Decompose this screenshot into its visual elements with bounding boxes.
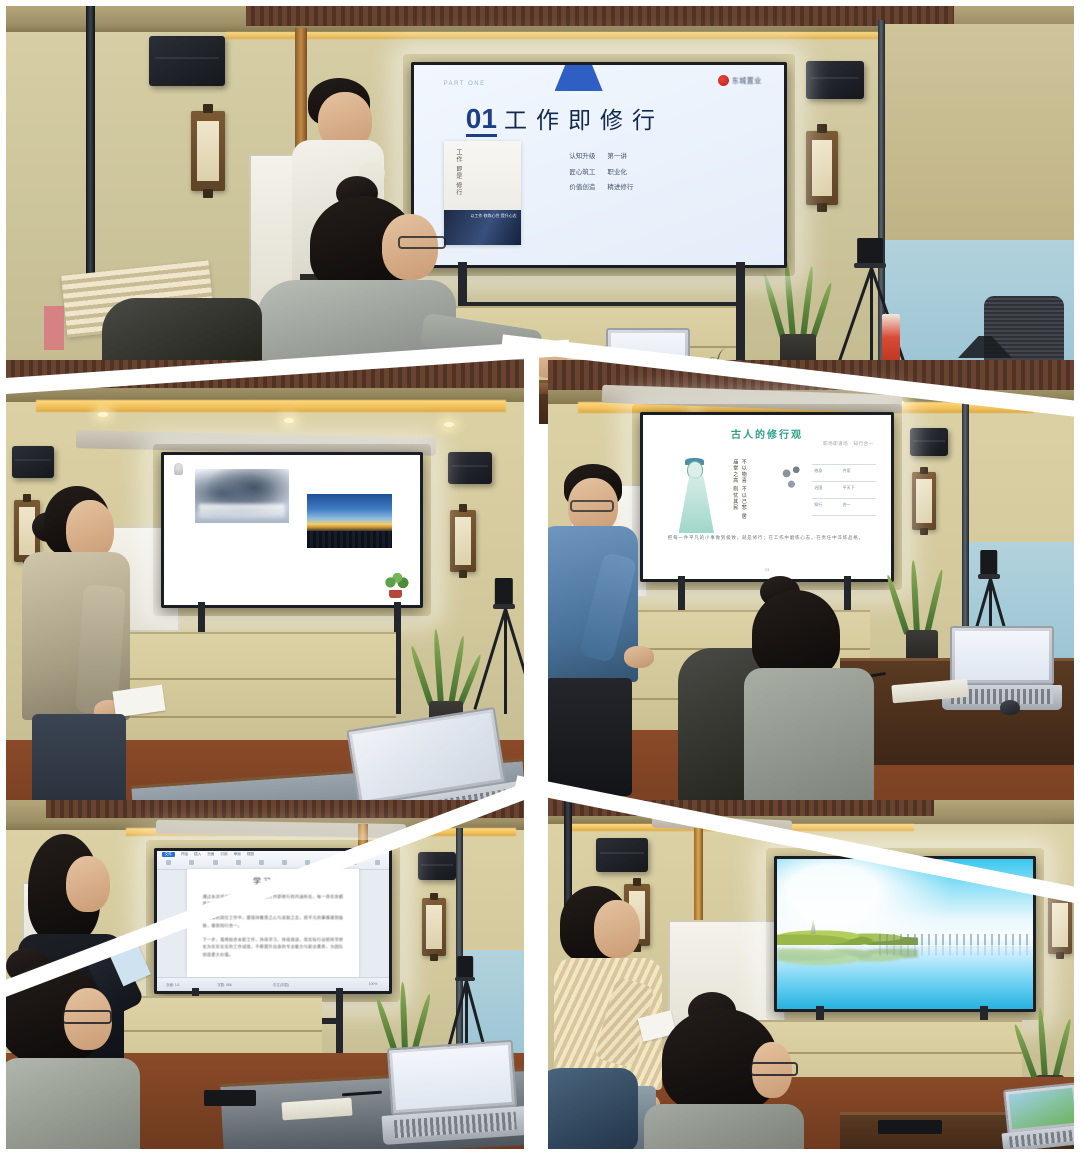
- slide-sketch-decor: [777, 459, 809, 495]
- person-glasses-icon: [398, 236, 446, 249]
- bullet-right: 精进修行: [607, 184, 633, 191]
- sconce-base: [817, 203, 827, 212]
- laptop[interactable]: [1003, 1082, 1074, 1149]
- wood-slat-ceiling: [246, 6, 954, 26]
- landscape-skyline-reflection: [879, 945, 1028, 956]
- toolbar-icon[interactable]: [328, 860, 333, 865]
- person-head: [66, 500, 114, 560]
- table-cell: 知行: [814, 502, 822, 508]
- toolbar-icon[interactable]: [352, 860, 357, 865]
- camera-body-icon: [980, 550, 997, 575]
- wall-sconce-right: [1048, 896, 1072, 954]
- table-rule: [812, 498, 876, 499]
- ribbon-tabs[interactable]: 文件 开始 插入 页面 引用 审阅 视图: [162, 852, 254, 857]
- ribbon-tab-view[interactable]: 视图: [247, 852, 254, 857]
- slide-photo-sunset: [307, 494, 391, 548]
- wood-slat-ceiling: [548, 800, 934, 816]
- bullet-right: 第一讲: [607, 153, 627, 160]
- slide-brand-logo: 东城置业: [718, 75, 762, 86]
- slide-logo-icon: [174, 463, 183, 475]
- plant-leaf: [433, 629, 444, 705]
- person-torso: [744, 668, 874, 806]
- collage-panel-middle-left: [6, 360, 526, 860]
- chair-backrest: [548, 1068, 638, 1149]
- meeting-room-scene-bottom-left: 文件 开始 插入 页面 引用 审阅 视图: [6, 800, 526, 1149]
- wall-sconce-right: [450, 510, 476, 572]
- sconce-base: [430, 954, 438, 961]
- slide-mini-table: 修身 齐家 治国 平天下 知行 合一: [812, 458, 876, 524]
- display-screen-middle-right[interactable]: 古人的修行观 职场即道场 · 知行合一 不以物喜 不以己悲 居庙堂之高 则忧其民: [640, 412, 894, 582]
- laptop[interactable]: [950, 626, 1054, 710]
- wood-slat-ceiling: [6, 360, 526, 388]
- display-screen-bottom-left[interactable]: 文件 开始 插入 页面 引用 审阅 视图: [154, 848, 392, 994]
- cove-light: [226, 32, 934, 39]
- display-screen-middle-left[interactable]: [161, 452, 423, 608]
- plant-pot-icon: [389, 590, 401, 597]
- status-language: 中文(中国): [273, 982, 289, 987]
- sconce-cap: [920, 467, 928, 474]
- meeting-room-scene-bottom-right: [548, 800, 1074, 1149]
- wall-sconce-right: [806, 131, 838, 205]
- plant-leaf: [411, 993, 432, 1053]
- slide-scholar: 古人的修行观 职场即道场 · 知行合一 不以物喜 不以己悲 居庙堂之高 则忧其民: [643, 415, 891, 579]
- document-paragraph: 在日常的岗位工作中，要保持敬畏之心与进取之志，把平凡的事情做到极致，做到知行合一…: [203, 914, 344, 929]
- sconce-cap: [203, 104, 214, 114]
- desk-object: [878, 1120, 942, 1134]
- status-zoom[interactable]: 100%: [369, 982, 378, 986]
- slide-plant-decor: [382, 571, 410, 598]
- person-torso: [6, 1058, 140, 1149]
- toolbar-icon[interactable]: [236, 860, 241, 865]
- toolbar-icon[interactable]: [305, 860, 310, 865]
- plant-leaf: [1037, 1007, 1048, 1079]
- sconce-cap: [430, 893, 438, 900]
- slide-bottom-text: 把每一件平凡的小事做到极致，就是修行；在工作中磨练心志，在责任中淬炼品格。: [668, 533, 866, 542]
- wall-speaker-right: [448, 452, 492, 484]
- camera-body-icon: [457, 956, 473, 978]
- wall-speaker: [596, 838, 648, 872]
- slide-number: 01: [466, 105, 497, 137]
- brand-name: 东城置业: [732, 76, 762, 86]
- table-rule: [812, 464, 876, 465]
- ceiling-downlight: [284, 418, 294, 423]
- ceiling-downlight: [444, 422, 454, 427]
- wall-speaker-right: [806, 61, 864, 99]
- toolbar-icon[interactable]: [375, 860, 380, 865]
- computer-mouse[interactable]: [1000, 700, 1020, 715]
- display-screen-bottom-right[interactable]: [774, 856, 1036, 1012]
- toolbar-icon[interactable]: [166, 860, 171, 865]
- slide-title: 古人的修行观: [731, 426, 803, 441]
- leather-chair: [548, 1068, 638, 1149]
- status-page: 页面: 1/1: [166, 982, 179, 987]
- person-glasses-icon: [750, 1062, 798, 1076]
- table-cell: 齐家: [843, 468, 851, 474]
- person-head: [594, 900, 640, 958]
- toolbar-icon[interactable]: [213, 860, 218, 865]
- laptop-screen: [392, 1045, 512, 1110]
- bullet-left: 匠心筑工: [569, 169, 595, 176]
- person-glasses-icon: [62, 1010, 112, 1024]
- slide-document: 文件 开始 插入 页面 引用 审阅 视图: [157, 851, 389, 991]
- sconce-cap: [817, 124, 827, 133]
- document-ribbon[interactable]: 文件 开始 插入 页面 引用 审阅 视图: [157, 851, 389, 870]
- tripod-legs: [484, 609, 524, 714]
- collage-panel-bottom-right: [548, 800, 1074, 1149]
- person-head: [66, 856, 110, 912]
- slide-landscape: [777, 859, 1033, 1009]
- table-rule: [812, 481, 876, 482]
- ribbon-tab-home[interactable]: 开始: [181, 852, 188, 857]
- sconce-base: [1056, 952, 1064, 959]
- plant-leaf: [924, 569, 945, 635]
- screen-surface: [164, 455, 420, 605]
- wood-slat-ceiling: [46, 800, 526, 818]
- cabinet-seam: [96, 716, 396, 718]
- table-rule: [812, 515, 876, 516]
- camera-body-icon: [857, 238, 883, 264]
- wall-right-upper: [884, 24, 1074, 240]
- meeting-room-scene-middle-left: [6, 360, 526, 860]
- collage-panel-bottom-left: 文件 开始 插入 页面 引用 审阅 视图: [6, 800, 526, 1149]
- person-hair: [752, 590, 840, 678]
- laptop-keyboard[interactable]: [393, 1112, 517, 1138]
- slide-bullet-list: 认知升级第一讲 匠心筑工职业化 价值创造精进修行: [569, 149, 645, 196]
- ribbon-tab-file[interactable]: 文件: [162, 852, 175, 857]
- laptop-screen: [1008, 1088, 1074, 1129]
- toolbar-icon[interactable]: [189, 860, 194, 865]
- person-seated-foreground: [644, 992, 814, 1149]
- scholar-robe: [679, 476, 714, 533]
- person-seated-attendee: [744, 576, 884, 806]
- wall-speaker: [418, 852, 456, 880]
- laptop[interactable]: [387, 1040, 519, 1145]
- table-cell: 平天下: [843, 485, 855, 491]
- snake-plant: [896, 560, 948, 666]
- wall-sconce-left: [191, 111, 225, 191]
- table-cell: 合一: [843, 502, 851, 508]
- slide-vertical-poem: 不以物喜 不以己悲 居庙堂之高 则忧其民: [730, 459, 747, 525]
- person-glasses-icon: [570, 500, 614, 512]
- cove-light: [36, 400, 506, 412]
- wall-sconce: [422, 898, 446, 956]
- slide-photo-ink-landscape: [195, 469, 290, 523]
- wall-speaker: [910, 428, 948, 456]
- person-presenter-man: [548, 464, 656, 794]
- bullet-left: 认知升级: [569, 153, 595, 160]
- slide-bullet-row: 价值创造精进修行: [569, 180, 645, 196]
- screen-surface: [777, 859, 1033, 1009]
- laptop-lid: [950, 626, 1054, 685]
- slide-headline: 01 工作即修行: [466, 101, 664, 137]
- slide-page-number: 03: [765, 567, 769, 572]
- slide-trapezoid-decor: [555, 65, 603, 91]
- cabinet-seam: [96, 678, 396, 680]
- collage-separator-vertical: [524, 782, 539, 1155]
- ribbon-icon-row[interactable]: [166, 860, 379, 865]
- wall-speaker-left: [12, 446, 54, 478]
- toolbar-icon[interactable]: [259, 860, 264, 865]
- sconce-shade: [916, 479, 931, 523]
- sconce-cap: [1056, 891, 1064, 898]
- sconce-shade: [1052, 903, 1067, 947]
- bullet-left: 价值创造: [569, 184, 595, 191]
- sconce-shade: [426, 905, 441, 949]
- document-paragraph: 下一步，我将结合本职工作，持续学习、持续改进，用实际行动把所学转化为实实在在的工…: [203, 936, 344, 958]
- sconce-cap: [459, 504, 467, 511]
- sconce-cap: [633, 878, 641, 885]
- person-hand: [624, 646, 654, 668]
- table-cell: 修身: [814, 468, 822, 474]
- document-page: 学习心得 通过本次培训学习，我深刻认识到工作即修行的内涵所在，每一项任务都是自我…: [187, 869, 359, 977]
- toolbar-icon[interactable]: [282, 860, 287, 865]
- document-title: 学习心得: [187, 876, 359, 887]
- bullet-right: 职业化: [607, 169, 627, 176]
- slide-top-right-note: 职场即道场 · 知行合一: [823, 441, 874, 447]
- water-bottle: [882, 314, 900, 366]
- brand-mark-icon: [718, 75, 729, 86]
- laptop-lid: [387, 1040, 517, 1116]
- slide-title-zh: 工作即修行: [504, 101, 664, 135]
- screen-surface: 古人的修行观 职场即道场 · 知行合一 不以物喜 不以己悲 居庙堂之高 则忧其民: [643, 415, 891, 579]
- plant-foliage-icon: [382, 571, 410, 590]
- person-torso: [644, 1104, 804, 1149]
- laptop-screen: [955, 631, 1049, 680]
- desk-object: [204, 1090, 256, 1106]
- person-foreground-woman: [6, 948, 150, 1149]
- document-paragraph: 通过本次培训学习，我深刻认识到工作即修行的内涵所在，每一项任务都是自我成长的契机…: [203, 893, 344, 908]
- plant-leaf: [1052, 1018, 1073, 1080]
- status-wordcount: 字数: 586: [217, 982, 231, 987]
- table-cell: 治国: [814, 485, 822, 491]
- ribbon-tab-page[interactable]: 页面: [207, 852, 214, 857]
- plant-leaf: [400, 982, 408, 1052]
- collage-panel-middle-right: 古人的修行观 职场即道场 · 知行合一 不以物喜 不以己悲 居庙堂之高 则忧其民: [548, 360, 1074, 860]
- sconce-base: [920, 528, 928, 535]
- ribbon-tab-review[interactable]: 审阅: [234, 852, 241, 857]
- snake-plant: [768, 261, 828, 371]
- ribbon-tab-insert[interactable]: 插入: [194, 852, 201, 857]
- plant-leaf: [783, 260, 796, 338]
- camera-body-icon: [495, 578, 513, 605]
- plant-leaf: [910, 560, 920, 634]
- wall-pink-note: [44, 306, 64, 350]
- camera-tripod: [484, 578, 524, 714]
- ribbon-tab-reference[interactable]: 引用: [220, 852, 227, 857]
- sconce-shade: [455, 517, 472, 564]
- wall-sconce: [912, 472, 936, 530]
- wall-pipe: [86, 6, 95, 306]
- sconce-base: [459, 570, 467, 577]
- slide-two-photos: [164, 455, 420, 605]
- collage-canvas: PART ONE 东城置业 01 工作即修行 工作 即是 修行 以: [0, 0, 1080, 1155]
- slide-part-label: PART ONE: [444, 81, 486, 87]
- sconce-base: [203, 189, 214, 199]
- landscape-city-skyline: [879, 934, 1028, 945]
- slide-scholar-illustration: [675, 458, 717, 533]
- laptop-keyboard[interactable]: [1009, 1129, 1074, 1148]
- meeting-room-scene-middle-right: 古人的修行观 职场即道场 · 知行合一 不以物喜 不以己悲 居庙堂之高 则忧其民: [548, 360, 1074, 860]
- wall-speaker-left: [149, 36, 225, 86]
- person-legs: [548, 678, 632, 796]
- screen-surface: 文件 开始 插入 页面 引用 审阅 视图: [157, 851, 389, 991]
- slide-bullet-row: 认知升级第一讲: [569, 149, 645, 165]
- slide-bullet-row: 匠心筑工职业化: [569, 165, 645, 181]
- sconce-shade: [197, 121, 219, 182]
- sconce-shade: [812, 140, 833, 196]
- ceiling-downlight: [98, 412, 108, 417]
